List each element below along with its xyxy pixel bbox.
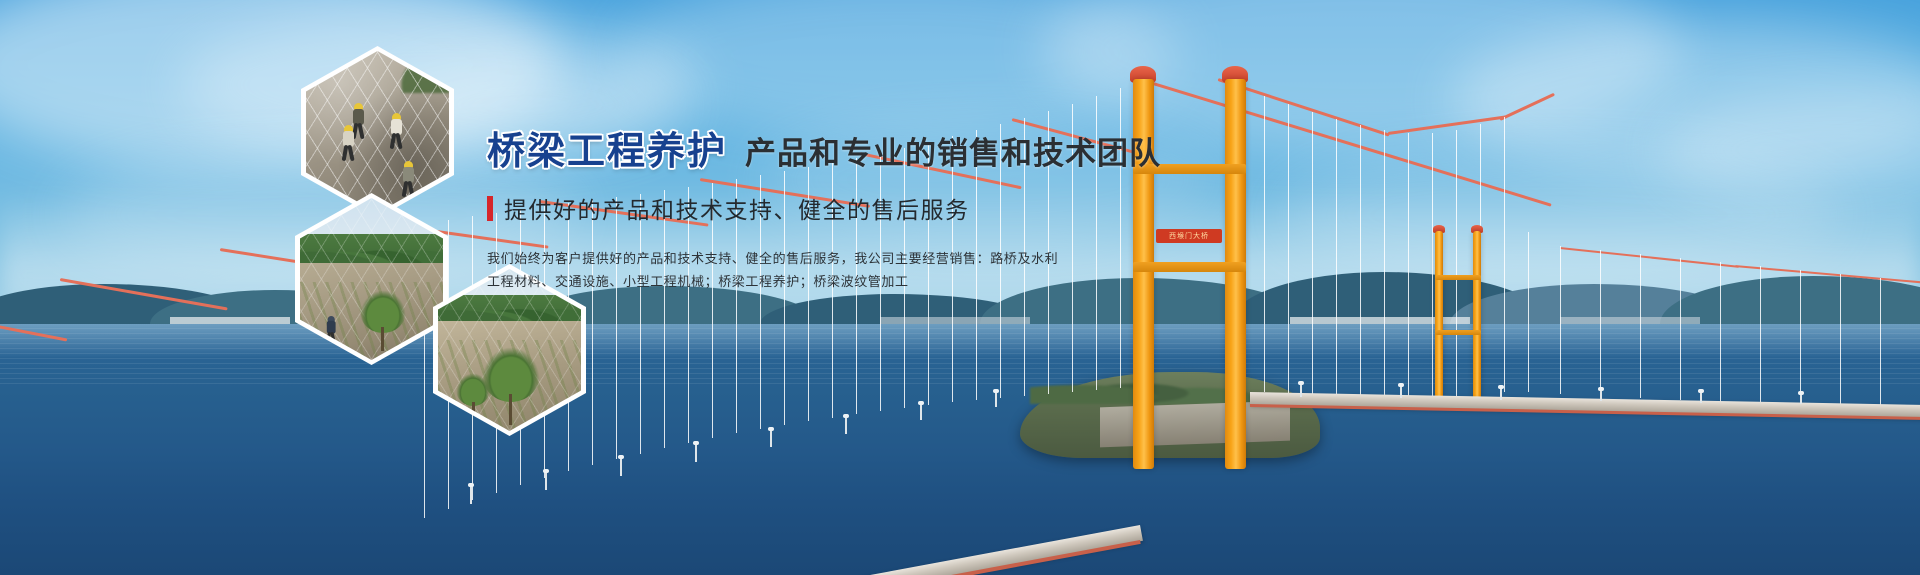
hanger-cable (1408, 133, 1409, 405)
description-line-2: 工程材料、交通设施、小型工程机械；桥梁工程养护；桥梁波纹管加工 (487, 270, 1247, 293)
hanger-cable (1288, 104, 1289, 396)
main-cable (1560, 247, 1739, 268)
deck-lamp (1800, 394, 1802, 404)
tree (456, 373, 490, 419)
hanger-cable (1840, 274, 1841, 410)
deck-lamp (770, 430, 772, 447)
hanger-cable (1680, 258, 1681, 400)
bridge-deck-left (393, 525, 1143, 575)
hanger-cable (1640, 254, 1641, 398)
subheadline-row: 提供好的产品和技术支持、健全的售后服务 (487, 191, 1247, 225)
hanger-cable (1336, 119, 1337, 403)
deck-lamp (1400, 386, 1402, 398)
deck-lamp (1300, 384, 1302, 397)
main-cable (1388, 115, 1507, 135)
deck-lamp (1700, 392, 1702, 403)
deck-lamp (545, 472, 547, 490)
headline: 桥梁工程养护 产品和专业的销售和技术团队 (487, 120, 1247, 175)
headline-secondary: 产品和专业的销售和技术团队 (745, 128, 1161, 173)
tower-crossbeam (1435, 275, 1481, 280)
bridge-tower-far (1433, 225, 1483, 405)
hanger-cable (1264, 96, 1265, 392)
hanger-cable (1560, 246, 1561, 394)
hanger-cable (1528, 232, 1529, 392)
protection-mesh-overlay (306, 51, 449, 213)
deck-lamp (620, 458, 622, 476)
hanger-cable (1800, 270, 1801, 407)
hanger-cable (1360, 125, 1361, 405)
tower-crossbeam (1435, 330, 1481, 335)
deck-lamp (920, 404, 922, 420)
tree (360, 290, 406, 350)
hero-banner: 西堠门大桥 (0, 0, 1920, 575)
deck-lamp (1500, 388, 1502, 400)
deck-lamp (995, 392, 997, 407)
red-accent-bar (487, 196, 493, 221)
deck-lamp (1600, 390, 1602, 401)
headline-primary: 桥梁工程养护 (487, 120, 727, 175)
deck-lamp (845, 417, 847, 434)
banner-copy: 桥梁工程养护 产品和专业的销售和技术团队 提供好的产品和技术支持、健全的售后服务… (487, 120, 1247, 293)
main-cable (60, 278, 228, 310)
hanger-cable (1312, 112, 1313, 400)
tree (482, 347, 540, 423)
description: 我们始终为客户提供好的产品和技术支持、健全的售后服务，我公司主要经营销售：路桥及… (487, 247, 1247, 293)
deck-lamp (695, 444, 697, 462)
hanger-cable (1384, 130, 1385, 406)
tower-leg (1473, 231, 1481, 403)
hanger-cable (1880, 278, 1881, 413)
description-line-1: 我们始终为客户提供好的产品和技术支持、健全的售后服务，我公司主要经营销售：路桥及… (487, 247, 1247, 270)
deck-lamp (470, 486, 472, 504)
tower-leg (1435, 231, 1443, 403)
main-cable (1499, 93, 1555, 121)
hanger-cable (1720, 262, 1721, 402)
hanger-cable (1504, 117, 1505, 392)
main-cable (0, 308, 67, 341)
hanger-cable (1600, 250, 1601, 396)
hex-photo-hillside-slope-net[interactable] (295, 193, 448, 365)
main-cable (1735, 265, 1920, 284)
subheadline-text: 提供好的产品和技术支持、健全的售后服务 (504, 191, 970, 225)
hanger-cable (1760, 266, 1761, 404)
